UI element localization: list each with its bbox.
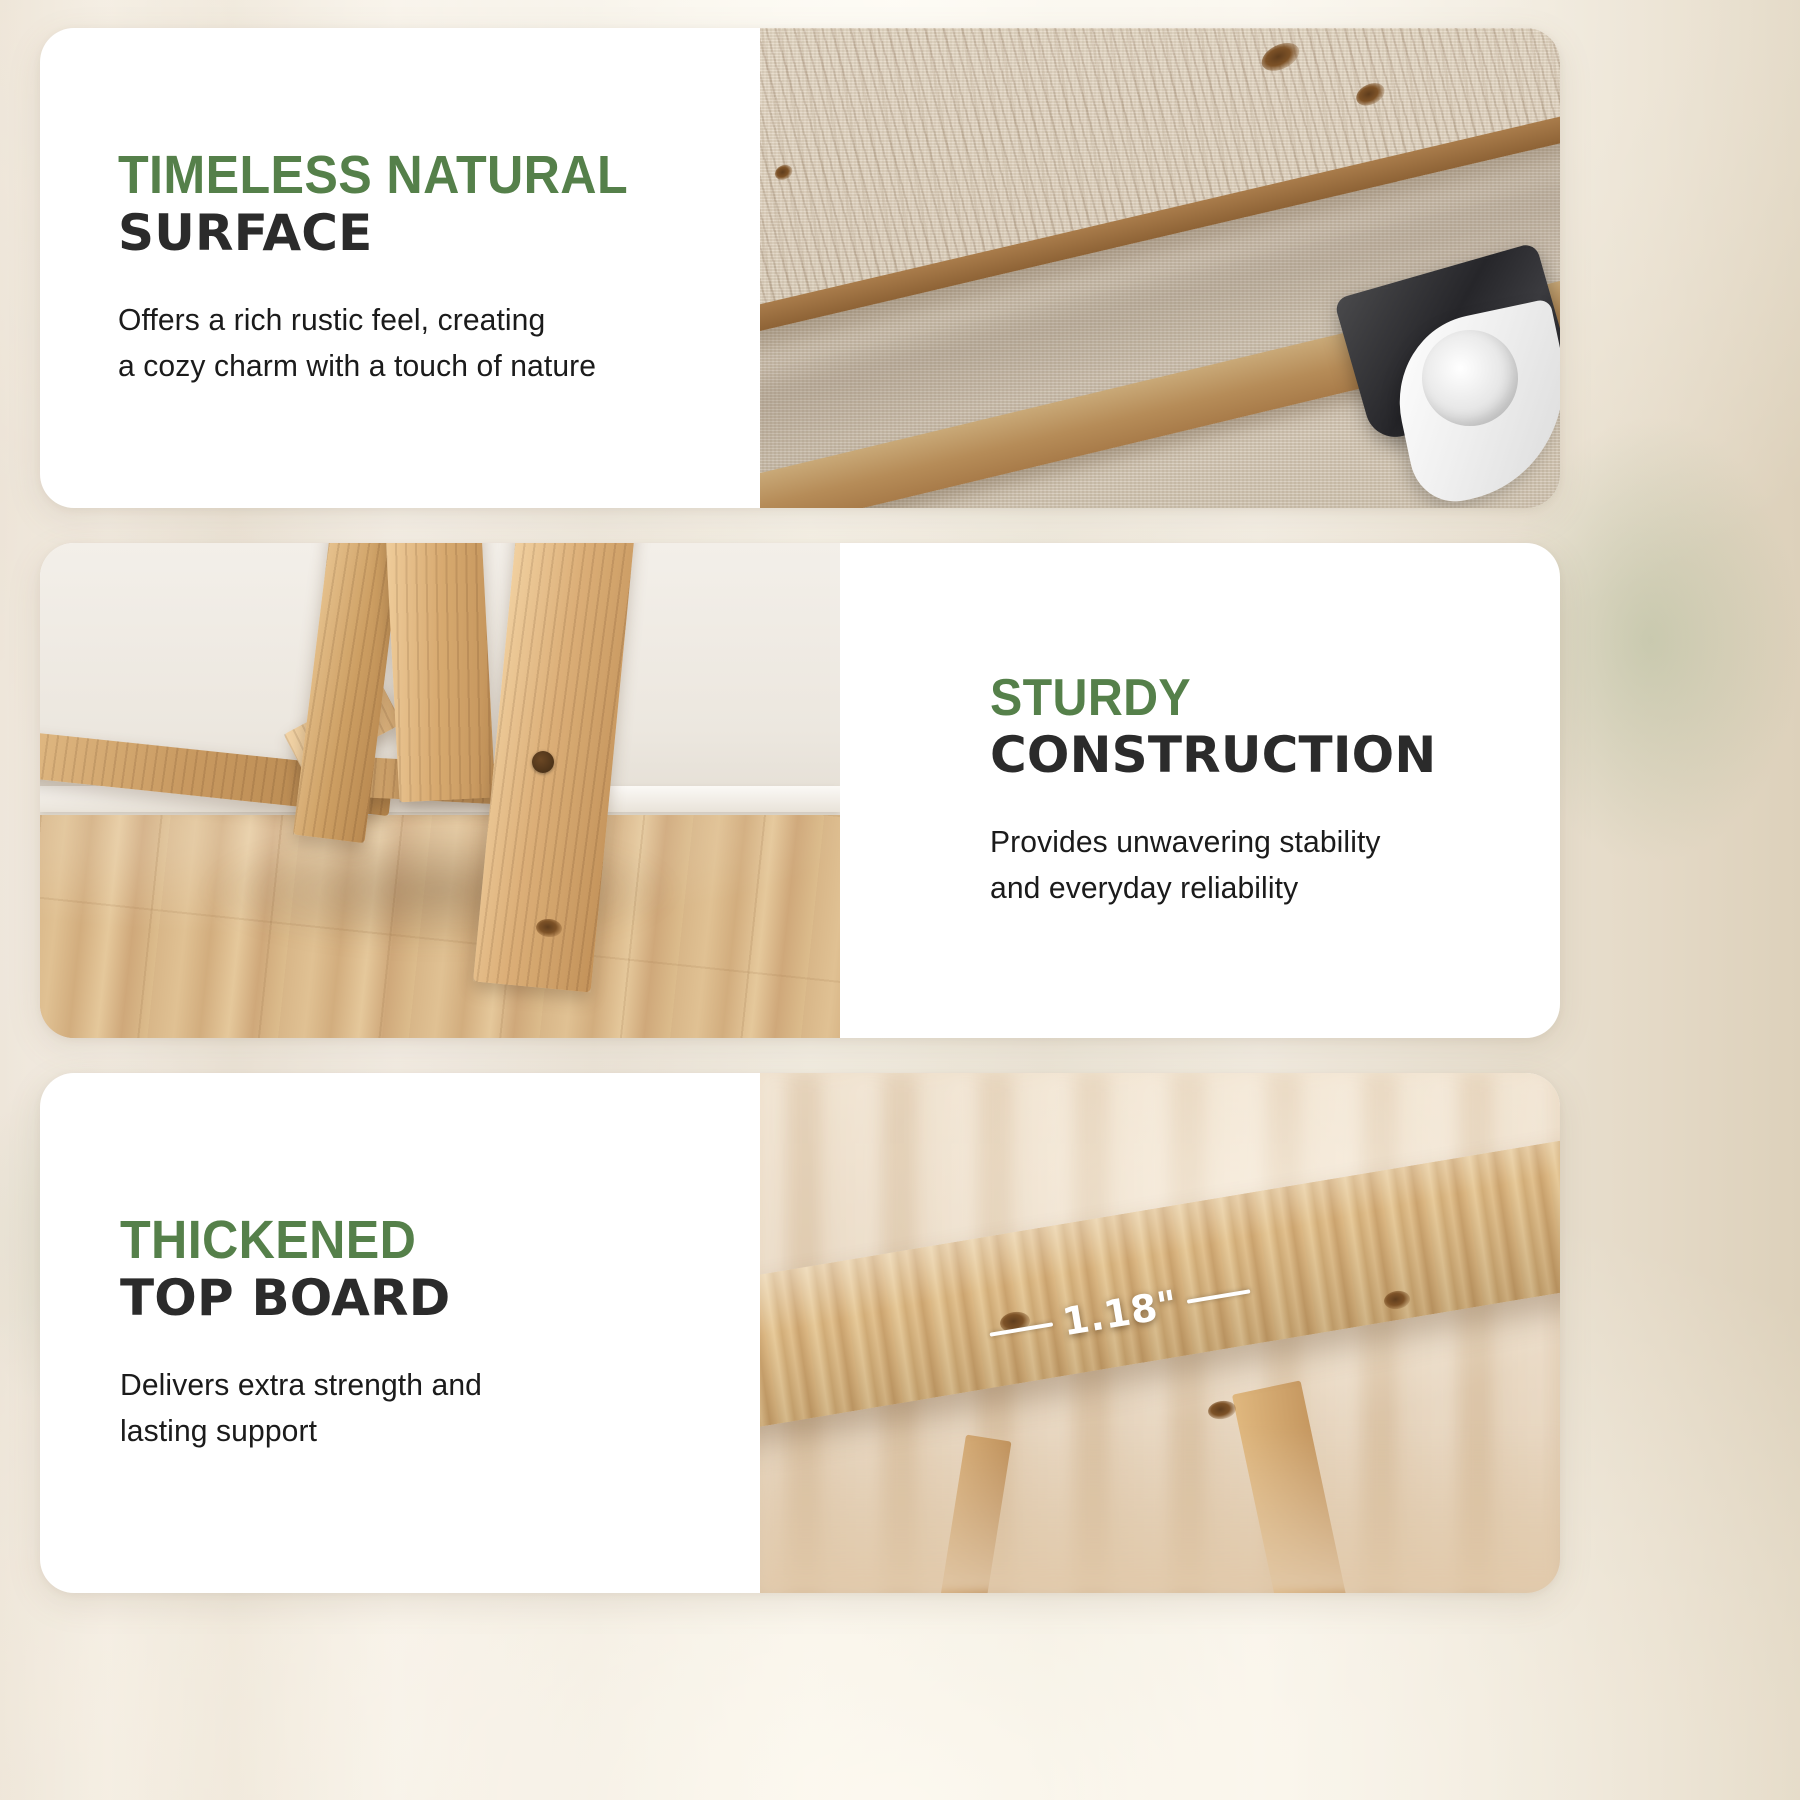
feature-heading-line1: TIMELESS NATURAL [118, 147, 715, 204]
feature-heading-line2: CONSTRUCTION [990, 726, 1560, 785]
table-leg-middle [385, 543, 496, 803]
feature-card-timeless-natural-surface: TIMELESS NATURAL SURFACE Offers a rich r… [40, 28, 1560, 508]
magazine-page-curl [1422, 330, 1518, 426]
feature-text-block: TIMELESS NATURAL SURFACE Offers a rich r… [40, 28, 760, 508]
feature-card-thickened-top-board: THICKENED TOP BOARD Delivers extra stren… [40, 1073, 1560, 1593]
feature-heading: THICKENED TOP BOARD [120, 1212, 760, 1328]
rolled-magazine-prop [1340, 268, 1560, 488]
dimension-rule-right [1187, 1289, 1251, 1304]
feature-image-sturdy-construction [40, 543, 840, 1038]
feature-image-timeless-natural-surface [760, 28, 1560, 508]
feature-description: Provides unwavering stability and everyd… [990, 819, 1543, 911]
feature-heading-line2: SURFACE [118, 204, 760, 263]
furniture-shadow [200, 830, 680, 950]
feature-description: Delivers extra strength and lasting supp… [120, 1362, 741, 1454]
feature-description: Offers a rich rustic feel, creating a co… [118, 297, 741, 389]
feature-image-thickened-top-board: 1.18" [760, 1073, 1560, 1593]
feature-heading: STURDY CONSTRUCTION [990, 671, 1560, 785]
floor-light-falloff [760, 1427, 1560, 1593]
feature-card-stage: TIMELESS NATURAL SURFACE Offers a rich r… [0, 0, 1800, 1800]
feature-text-block: THICKENED TOP BOARD Delivers extra stren… [40, 1073, 760, 1593]
feature-heading-line1: STURDY [990, 671, 1520, 726]
feature-heading-line1: THICKENED [120, 1212, 715, 1269]
dimension-rule-left [989, 1322, 1053, 1337]
feature-heading: TIMELESS NATURAL SURFACE [118, 147, 760, 263]
feature-text-block: STURDY CONSTRUCTION Provides unwavering … [840, 543, 1560, 1038]
feature-heading-line2: TOP BOARD [120, 1269, 760, 1328]
feature-card-sturdy-construction: STURDY CONSTRUCTION Provides unwavering … [40, 543, 1560, 1038]
wood-dowel-peg-icon [532, 751, 554, 773]
